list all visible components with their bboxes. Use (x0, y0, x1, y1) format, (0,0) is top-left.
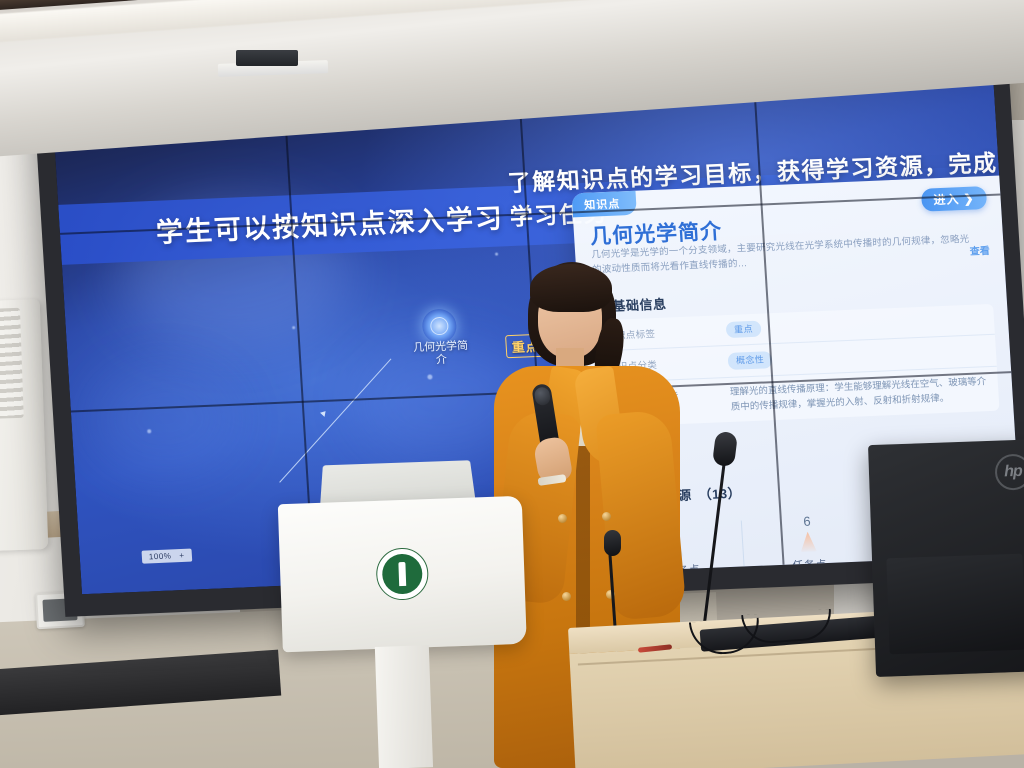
ac-vent (0, 308, 24, 419)
ceiling-panel (0, 0, 1024, 46)
coat-button (562, 592, 571, 601)
tag-pill: 重点 (726, 321, 762, 339)
hp-logo-icon: hp (994, 453, 1024, 490)
hair-front (530, 264, 612, 312)
gooseneck-mic-head-2 (604, 530, 621, 556)
row-value: 重点 (726, 311, 985, 338)
enter-button[interactable]: 进入 ❯ (921, 186, 987, 212)
enter-button-label: 进入 (933, 190, 960, 208)
stat-task-point[interactable]: 6 任务点 (740, 511, 876, 575)
view-more-link[interactable]: 查看 (969, 242, 990, 258)
lectern-podium (277, 474, 531, 768)
podium-column (375, 645, 433, 768)
mindmap-edge-arrow (320, 409, 328, 417)
row-value: 概念性 (728, 343, 987, 370)
lecture-room-scene: 学生可以按知识点深入学习 了解知识点的学习目标，获得学习资源，完成学习任务 几何… (0, 0, 1024, 768)
stat-value: 6 (803, 514, 811, 529)
mindmap-node-geometric-optics[interactable] (421, 308, 457, 343)
zoom-in-icon[interactable]: + (179, 551, 185, 560)
shelf-equipment (236, 50, 298, 66)
coat-button (558, 514, 567, 523)
stat-label: 任务点 (792, 556, 827, 573)
coat-button (602, 512, 611, 521)
secondary-monitor (886, 554, 1024, 655)
podium-front-face (278, 496, 527, 652)
row-value: 理解光的直线传播原理：学生能够理解光线在空气、玻璃等介质中的传播规律，掌握光的入… (729, 374, 989, 415)
chevron-right-icon: ❯ (963, 191, 975, 205)
mindmap-node-label-geometric-optics: 几何光学简介 (408, 340, 473, 368)
slide-zoom-control[interactable]: 100% + (142, 549, 192, 564)
zoom-level-label: 100% (149, 551, 172, 561)
university-crest-icon (375, 547, 429, 601)
stat-glyph-icon (800, 531, 817, 552)
knowledge-point-tag: 知识点 (571, 191, 636, 218)
category-pill: 概念性 (728, 352, 773, 370)
crest-inner (382, 553, 423, 594)
